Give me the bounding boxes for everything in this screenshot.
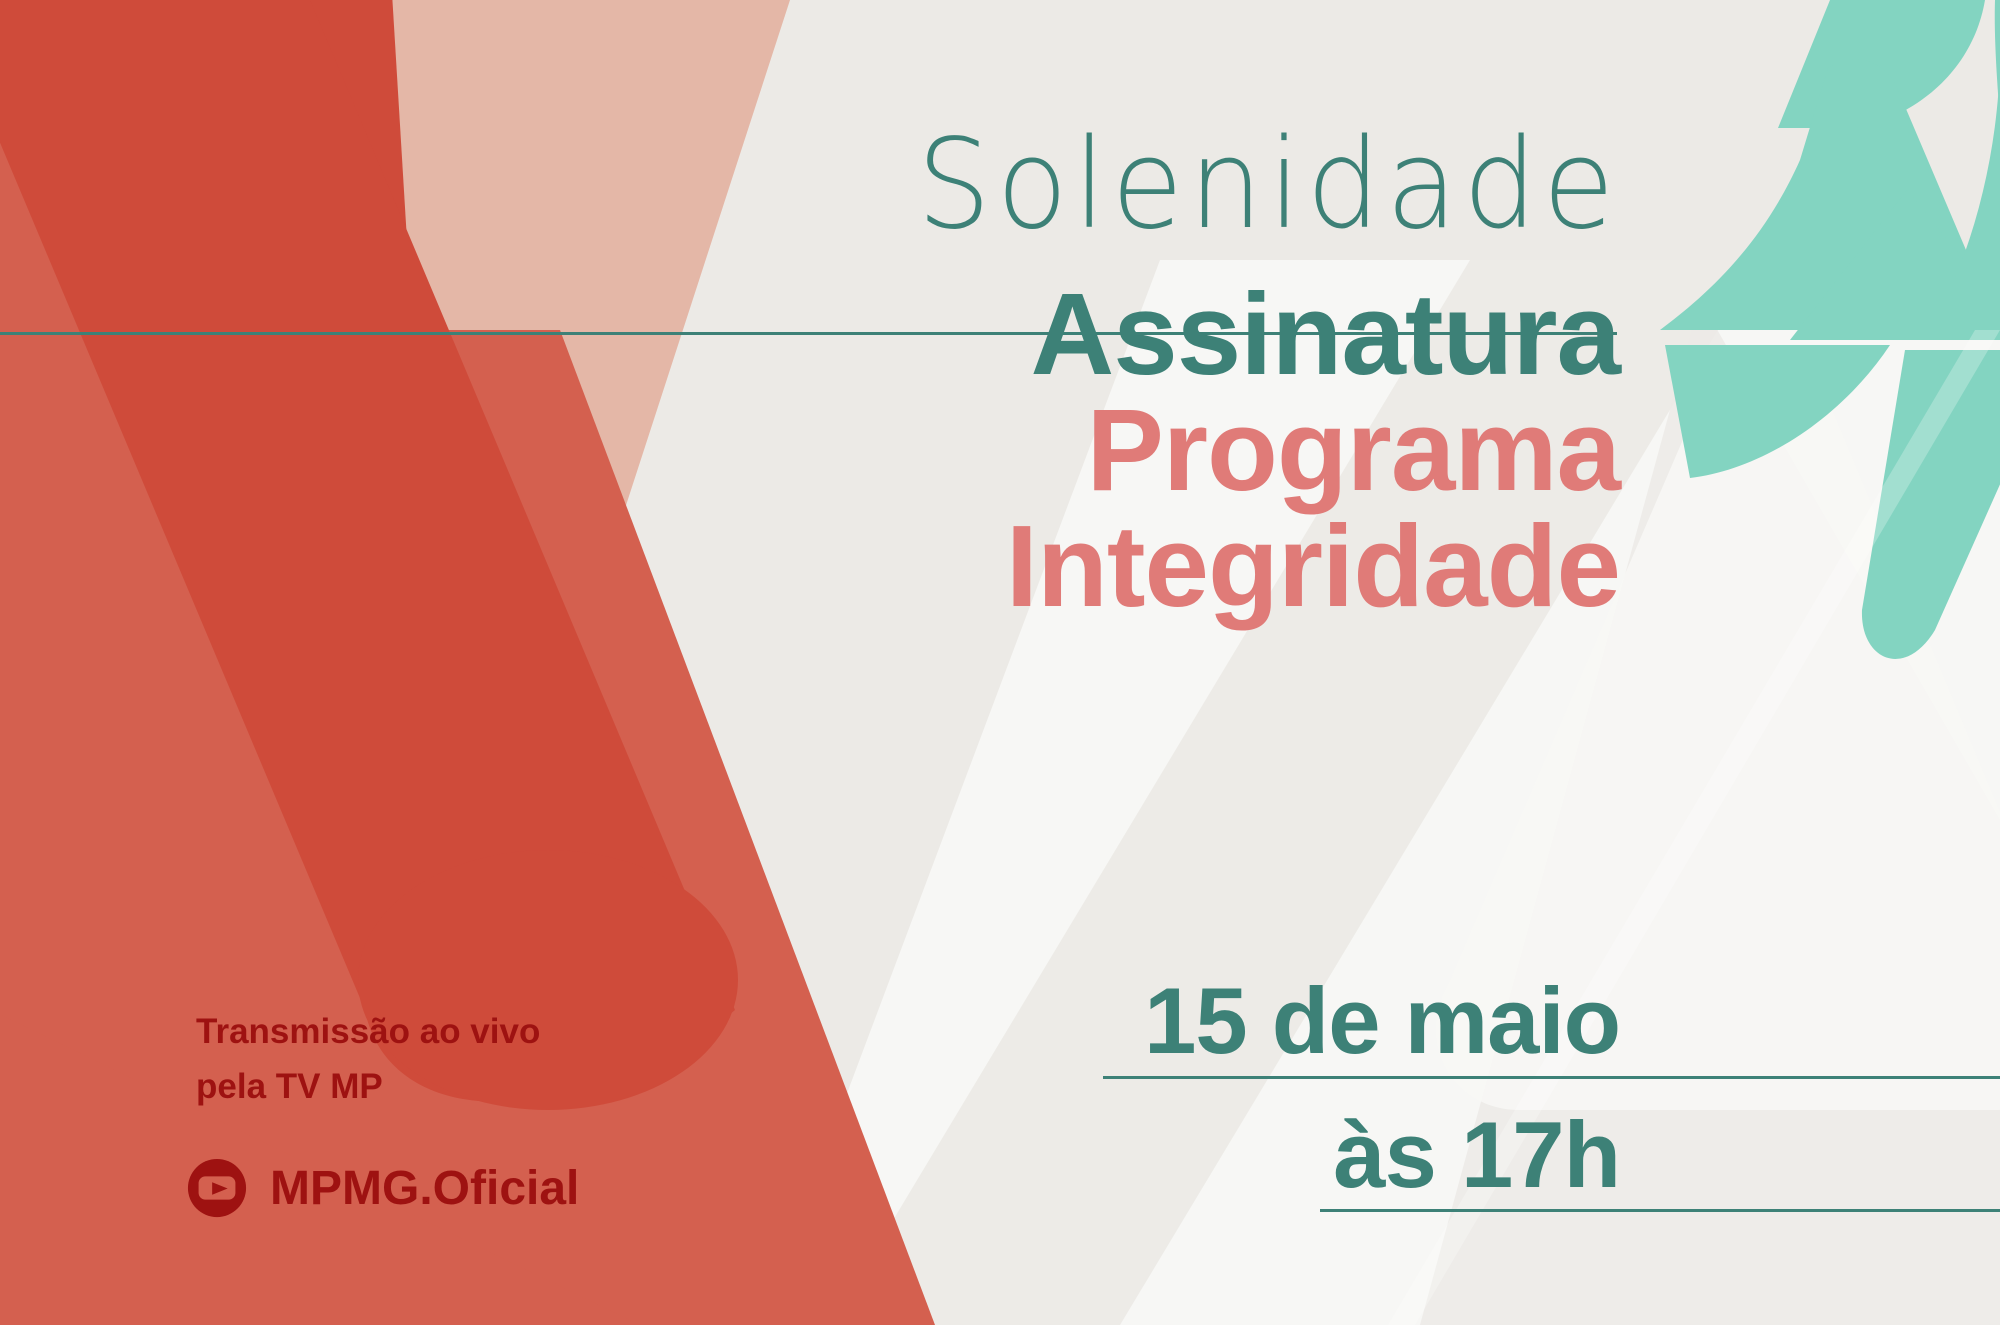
headline-eyebrow: Solenidade bbox=[746, 120, 1620, 250]
youtube-icon[interactable] bbox=[186, 1157, 248, 1219]
broadcast-line-1: Transmissão ao vivo bbox=[196, 1004, 716, 1059]
poster-canvas: Solenidade Assinatura Programa Integrida… bbox=[0, 0, 2000, 1325]
event-time: às 17h bbox=[820, 1104, 1620, 1206]
headline-block: Solenidade Assinatura Programa Integrida… bbox=[690, 120, 1620, 624]
date-divider-2 bbox=[1320, 1209, 2000, 1212]
broadcast-line-2: pela TV MP bbox=[196, 1059, 716, 1114]
channel-row[interactable]: MPMG.Oficial bbox=[186, 1157, 579, 1219]
event-date: 15 de maio bbox=[820, 970, 1620, 1072]
headline-line-assinatura: Assinatura bbox=[690, 276, 1620, 392]
content-layer: Solenidade Assinatura Programa Integrida… bbox=[0, 0, 2000, 1325]
event-datetime-block: 15 de maio às 17h bbox=[820, 970, 1620, 1205]
channel-name[interactable]: MPMG.Oficial bbox=[270, 1161, 579, 1216]
headline-line-programa: Programa bbox=[690, 392, 1620, 508]
headline-line-integridade: Integridade bbox=[690, 508, 1620, 624]
broadcast-block: Transmissão ao vivo pela TV MP bbox=[196, 1004, 716, 1115]
